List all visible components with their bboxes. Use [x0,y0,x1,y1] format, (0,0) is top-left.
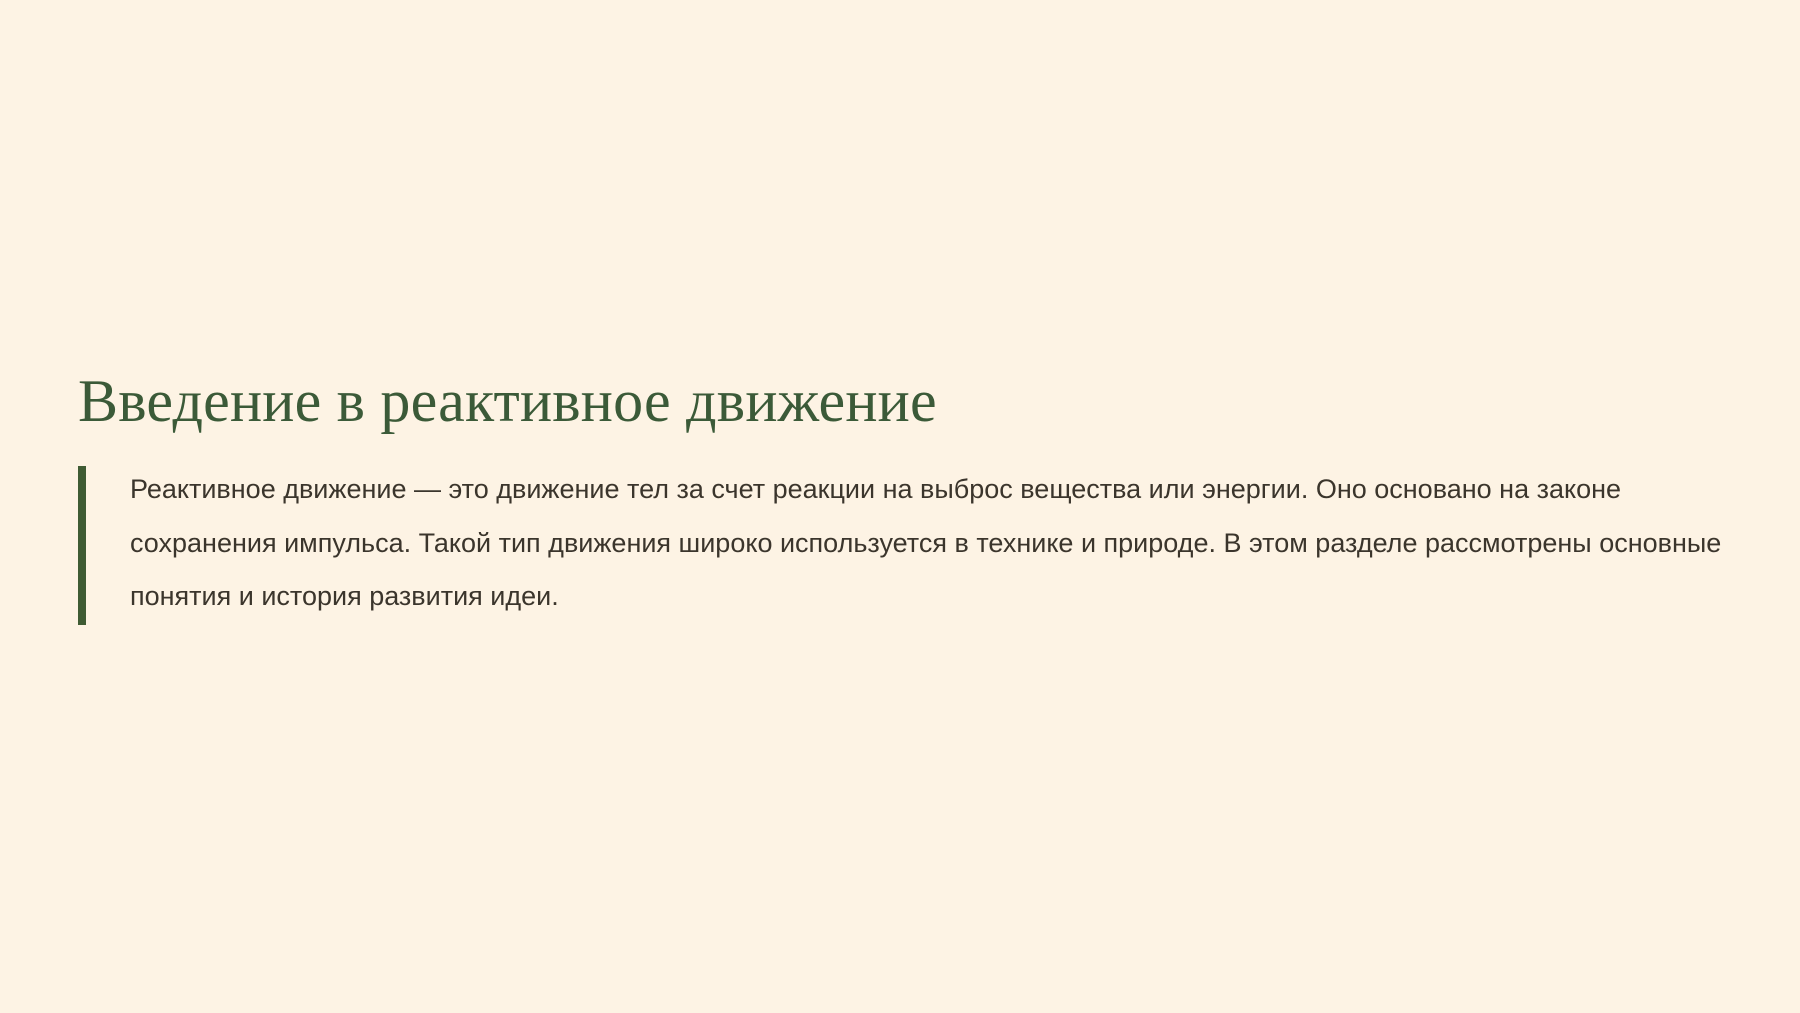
intro-paragraph: Реактивное движение — это движение тел з… [130,463,1742,623]
accent-bar [78,466,86,625]
page-title: Введение в реактивное движение [78,368,1718,435]
document-page: Введение в реактивное движение Реактивно… [0,0,1800,1013]
intro-callout: Реактивное движение — это движение тел з… [78,463,1718,623]
section-content: Введение в реактивное движение Реактивно… [78,368,1718,624]
